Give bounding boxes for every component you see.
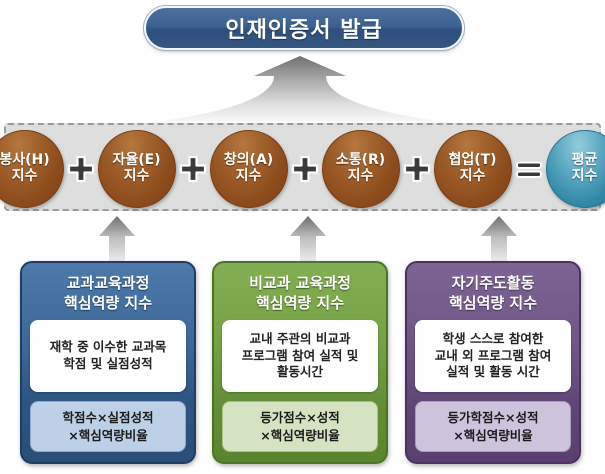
index-circle-label-line2: 지수 — [460, 169, 486, 185]
index-circle-label-line1: 평균 — [572, 153, 598, 169]
index-circle-average[interactable]: 평균 지수 — [546, 130, 605, 208]
card-formula-line2: ×핵심역량비율 — [63, 427, 154, 445]
certificate-title-pill: 인재인증서 발급 — [144, 6, 464, 50]
card-title: 교과교육과정 핵심역량 지수 — [30, 270, 186, 320]
index-circle-service[interactable]: 봉사(H) 지수 — [0, 130, 64, 208]
card-desc-line3: 실적 및 활동 시간 — [435, 364, 552, 381]
card-formula: 등가점수×성적 ×핵심역량비율 — [222, 401, 378, 452]
up-arrow-icon-extracurricular — [287, 213, 329, 265]
index-circle-label-line2: 지수 — [12, 169, 38, 185]
plus-icon — [401, 153, 433, 185]
plus-icon — [177, 153, 209, 185]
card-formula-line2: ×핵심역량비율 — [260, 427, 339, 445]
card-description: 재학 중 이수한 교과목 학점 및 실점성적 — [30, 320, 186, 392]
card-formula-line1: 등가학점수×성적 — [448, 409, 539, 427]
plus-icon — [289, 153, 321, 185]
card-desc-line1: 교내 주관의 비교과 — [242, 331, 359, 348]
card-title-line2: 핵심역량 지수 — [415, 294, 571, 314]
index-circle-creativity[interactable]: 창의(A) 지수 — [210, 130, 288, 208]
index-circle-label-line2: 지수 — [348, 169, 374, 185]
card-extracurricular[interactable]: 비교과 교육과정 핵심역량 지수 교내 주관의 비교과 프로그램 참여 실적 및… — [212, 261, 388, 464]
diagram-canvas: 인재인증서 발급 봉사(H) 지수 — [0, 0, 605, 474]
index-circle-label-line1: 봉사(H) — [0, 153, 50, 169]
index-circle-label-line2: 지수 — [124, 169, 150, 185]
card-title: 비교과 교육과정 핵심역량 지수 — [222, 270, 378, 320]
index-circle-communication[interactable]: 소통(R) 지수 — [322, 130, 400, 208]
card-title-line1: 자기주도활동 — [415, 274, 571, 294]
index-circle-cooperation[interactable]: 협업(T) 지수 — [434, 130, 512, 208]
card-self-directed[interactable]: 자기주도활동 핵심역량 지수 학생 스스로 참여한 교내 외 프로그램 참여 실… — [405, 261, 581, 464]
card-title: 자기주도활동 핵심역량 지수 — [415, 270, 571, 320]
card-desc-line1: 학생 스스로 참여한 — [435, 331, 552, 348]
card-formula-line2: ×핵심역량비율 — [448, 427, 539, 445]
card-desc-line1: 재학 중 이수한 교과목 — [50, 339, 167, 356]
card-formula: 등가학점수×성적 ×핵심역량비율 — [415, 401, 571, 452]
index-circle-label-line2: 지수 — [572, 169, 598, 185]
card-formula-line1: 학점수×실점성적 — [63, 409, 154, 427]
card-desc-line3: 활동시간 — [242, 364, 359, 381]
card-description: 교내 주관의 비교과 프로그램 참여 실적 및 활동시간 — [222, 320, 378, 392]
card-title-line1: 비교과 교육과정 — [222, 274, 378, 294]
big-up-arrow-icon — [120, 52, 480, 128]
card-curricular[interactable]: 교과교육과정 핵심역량 지수 재학 중 이수한 교과목 학점 및 실점성적 학점… — [20, 261, 196, 464]
index-circle-row: 봉사(H) 지수 자율(E) 지수 창의(A) 지수 — [6, 125, 603, 213]
page-title: 인재인증서 발급 — [225, 12, 382, 44]
card-desc-line2: 교내 외 프로그램 참여 — [435, 348, 552, 365]
card-formula-line1: 등가점수×성적 — [260, 409, 339, 427]
up-arrow-icon-curricular — [96, 213, 138, 265]
card-desc-line2: 학점 및 실점성적 — [50, 356, 167, 373]
card-title-line2: 핵심역량 지수 — [222, 294, 378, 314]
index-circle-label-line2: 지수 — [236, 169, 262, 185]
index-circle-label-line1: 소통(R) — [336, 153, 385, 169]
index-formula-panel: 봉사(H) 지수 자율(E) 지수 창의(A) 지수 — [4, 123, 601, 211]
card-title-line2: 핵심역량 지수 — [30, 294, 186, 314]
up-arrow-icon-selfdirected — [478, 213, 520, 265]
index-circle-label-line1: 자율(E) — [112, 153, 160, 169]
card-title-line1: 교과교육과정 — [30, 274, 186, 294]
index-circle-autonomy[interactable]: 자율(E) 지수 — [98, 130, 176, 208]
card-desc-line2: 프로그램 참여 실적 및 — [242, 348, 359, 365]
card-description: 학생 스스로 참여한 교내 외 프로그램 참여 실적 및 활동 시간 — [415, 320, 571, 392]
equals-icon — [513, 153, 545, 185]
plus-icon — [65, 153, 97, 185]
index-circle-label-line1: 창의(A) — [224, 153, 273, 169]
card-formula: 학점수×실점성적 ×핵심역량비율 — [30, 401, 186, 452]
index-circle-label-line1: 협업(T) — [448, 153, 496, 169]
